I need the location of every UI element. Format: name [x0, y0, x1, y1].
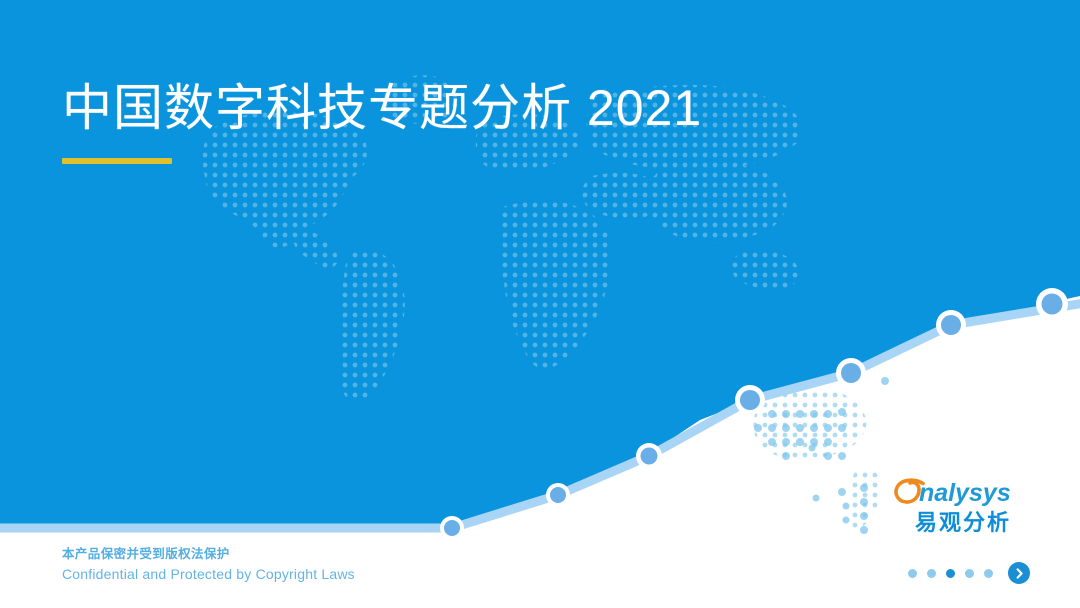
- title-accent-bar: [62, 158, 172, 164]
- confidentiality-notice: 本产品保密并受到版权法保护 Confidential and Protected…: [62, 545, 355, 586]
- page-title: 中国数字科技专题分析 2021: [62, 78, 962, 139]
- next-slide-button[interactable]: [1008, 562, 1030, 584]
- pager-dot-4[interactable]: [965, 569, 974, 578]
- pager-dot-2[interactable]: [927, 569, 936, 578]
- brand-logo: nalysys 易观分析: [893, 476, 1033, 535]
- slide-pager[interactable]: [908, 562, 1030, 584]
- confidentiality-notice-en: Confidential and Protected by Copyright …: [62, 564, 355, 586]
- brand-name-cn: 易观分析: [893, 511, 1033, 535]
- title-slide: 中国数字科技专题分析 2021 本产品保密并受到版权法保护 Confidenti…: [0, 0, 1080, 608]
- pager-dot-3[interactable]: [946, 569, 955, 578]
- analysys-wordmark: nalysys: [893, 476, 1033, 510]
- pager-dot-1[interactable]: [908, 569, 917, 578]
- analysys-logo-icon: nalysys: [893, 476, 1033, 510]
- chevron-right-icon: [1014, 568, 1025, 579]
- title-block: 中国数字科技专题分析 2021: [62, 78, 962, 164]
- confidentiality-notice-cn: 本产品保密并受到版权法保护: [62, 545, 355, 564]
- svg-text:nalysys: nalysys: [919, 479, 1011, 507]
- pager-dot-5[interactable]: [984, 569, 993, 578]
